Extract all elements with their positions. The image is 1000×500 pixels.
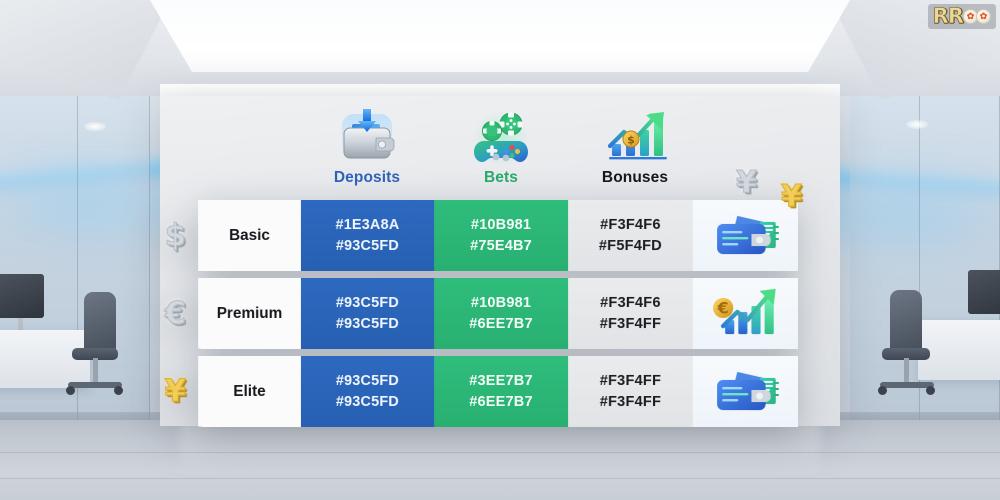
cell-preview: € xyxy=(693,278,798,349)
gamepad-chips-icon xyxy=(470,108,532,166)
euro-growth-chart-icon: € xyxy=(707,285,784,341)
cell-deposits: #1E3A8A #93C5FD xyxy=(301,200,434,271)
color-code: #F3F4FF xyxy=(600,392,661,413)
color-code: #F5F4FD xyxy=(599,236,662,257)
pricing-tier-color-table: $ Basic #1E3A8A #93C5FD #10B981 #75E4B7 … xyxy=(196,200,796,428)
header-bets[interactable]: Bets xyxy=(434,108,568,187)
cell-preview xyxy=(693,356,798,427)
cell-deposits: #93C5FD #93C5FD xyxy=(301,356,434,427)
table-column-headers: Deposits xyxy=(196,108,796,196)
chair-wheel-left-2 xyxy=(114,386,123,395)
cell-bets: #3EE7B7 #6EE7B7 xyxy=(434,356,568,427)
ceiling-downlight-left xyxy=(84,122,106,131)
header-label-deposits: Deposits xyxy=(334,169,400,187)
monitor-right xyxy=(968,270,1000,314)
svg-text:€: € xyxy=(716,298,728,317)
color-code: #10B981 xyxy=(471,292,531,313)
plan-label: Basic xyxy=(229,225,270,246)
dollar-symbol: $ xyxy=(165,220,186,251)
yen-symbol: ¥ xyxy=(165,376,186,407)
floor-seam-2 xyxy=(0,478,1000,479)
color-code: #F3F4FF xyxy=(600,314,661,335)
header-bonuses[interactable]: $ Bonuses xyxy=(568,108,702,187)
color-code: #93C5FD xyxy=(336,314,399,335)
glass-pane-3 xyxy=(850,84,920,420)
brand-logo[interactable]: RR ✿ ✿ xyxy=(928,4,996,29)
color-code: #6EE7B7 xyxy=(469,392,532,413)
plan-label: Elite xyxy=(233,381,265,402)
yen-symbol-gold: ¥ xyxy=(781,182,802,212)
floor-seam-1 xyxy=(0,452,1000,453)
header-label-bonuses: Bonuses xyxy=(602,169,668,187)
color-code: #3EE7B7 xyxy=(469,370,532,391)
digital-wallet-icon xyxy=(707,363,784,419)
ceiling-light-recess xyxy=(150,0,850,72)
color-code: #10B981 xyxy=(471,214,531,235)
cell-bonuses: #F3F4F6 #F3F4FF xyxy=(568,278,693,349)
desk-right xyxy=(918,320,1000,380)
cell-bets: #10B981 #6EE7B7 xyxy=(434,278,568,349)
cell-bonuses: #F3F4F6 #F5F4FD xyxy=(568,200,693,271)
brand-logo-text: RR xyxy=(933,6,963,27)
plan-label: Premium xyxy=(217,303,283,324)
color-code: #F3F4FF xyxy=(600,370,661,391)
chair-pole-right xyxy=(904,358,909,384)
chair-back-left xyxy=(84,292,116,352)
color-code: #93C5FD xyxy=(336,236,399,257)
color-code: #93C5FD xyxy=(336,293,399,314)
color-code: #93C5FD xyxy=(336,392,399,413)
cell-plan-name: Basic xyxy=(198,200,301,271)
color-code: #F3F4F6 xyxy=(600,292,661,313)
cell-plan-name: Elite xyxy=(198,356,301,427)
yen-symbol-silver: ¥ xyxy=(736,168,757,198)
color-code: #F3F4F6 xyxy=(600,214,661,235)
chair-wheel-right-2 xyxy=(926,386,935,395)
header-deposits[interactable]: Deposits xyxy=(300,108,434,187)
table-row[interactable]: ¥ Elite #93C5FD #93C5FD #3EE7B7 #6EE7B7 … xyxy=(198,356,798,427)
color-code: #75E4B7 xyxy=(470,236,532,257)
wallet-download-icon xyxy=(336,108,398,166)
chair-wheel-left-1 xyxy=(66,386,75,395)
color-code: #1E3A8A xyxy=(335,215,399,236)
cell-bonuses: #F3F4FF #F3F4FF xyxy=(568,356,693,427)
floor-reflection xyxy=(180,420,820,476)
chair-pole-left xyxy=(93,358,98,384)
digital-wallet-icon xyxy=(707,207,784,263)
table-row[interactable]: $ Basic #1E3A8A #93C5FD #10B981 #75E4B7 … xyxy=(198,200,798,271)
color-code: #6EE7B7 xyxy=(469,314,532,335)
table-row[interactable]: € Premium #93C5FD #93C5FD #10B981 #6EE7B… xyxy=(198,278,798,349)
monitor-left xyxy=(0,274,44,318)
ceiling-downlight-right xyxy=(906,120,928,129)
chair-wheel-right-1 xyxy=(878,386,887,395)
svg-text:$: $ xyxy=(627,134,635,147)
chair-back-right xyxy=(890,290,922,352)
cell-deposits: #93C5FD #93C5FD xyxy=(301,278,434,349)
growth-chart-coin-icon: $ xyxy=(604,108,666,166)
cell-bets: #10B981 #75E4B7 xyxy=(434,200,568,271)
cell-plan-name: Premium xyxy=(198,278,301,349)
color-code: #93C5FD xyxy=(336,371,399,392)
euro-symbol: € xyxy=(165,298,186,329)
header-label-bets: Bets xyxy=(484,169,518,187)
logo-flower-badge-2: ✿ xyxy=(976,9,991,24)
brand-logo-badges: ✿ ✿ xyxy=(965,9,991,24)
